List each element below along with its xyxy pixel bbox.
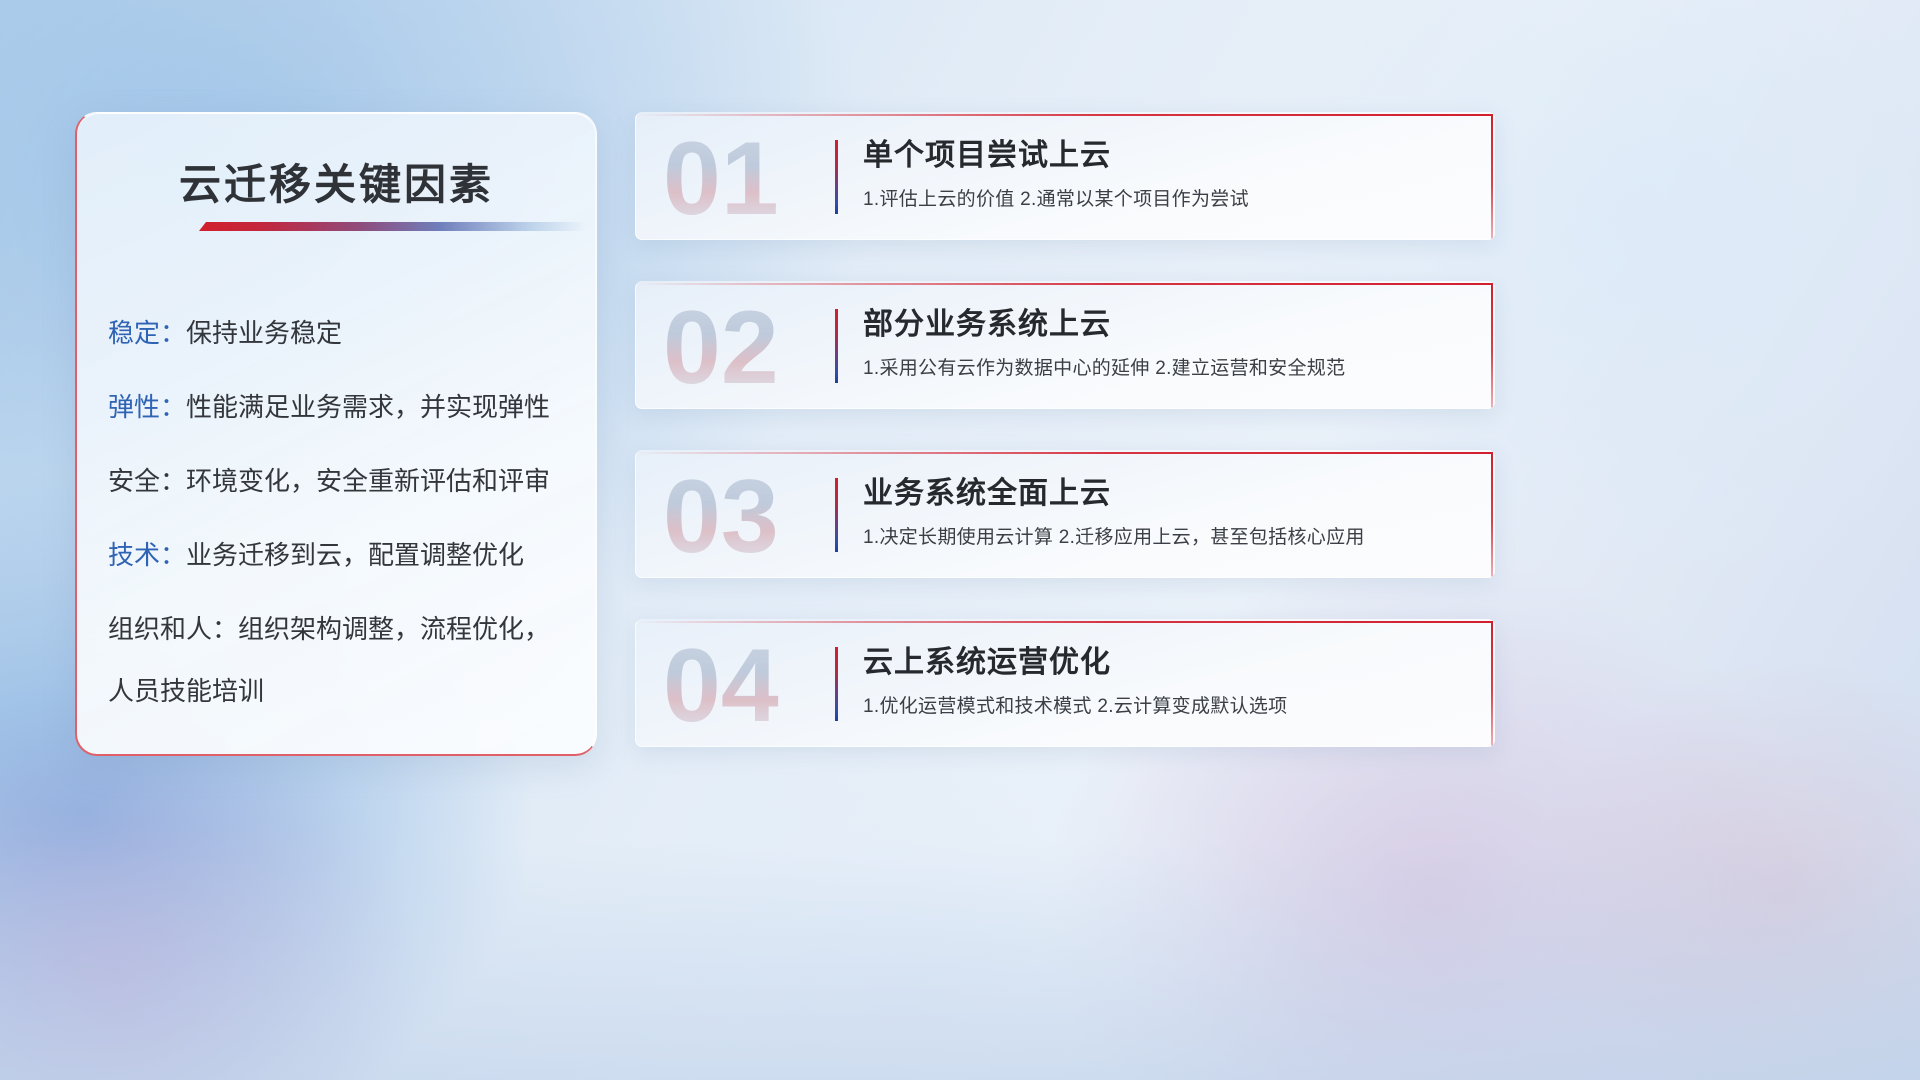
- factor-item: 技术：业务迁移到云，配置调整优化: [108, 542, 582, 568]
- factor-key: 技术：: [108, 540, 186, 570]
- stage-card[interactable]: 04 云上系统运营优化 1.优化运营模式和技术模式 2.云计算变成默认选项: [635, 619, 1495, 747]
- panel-title: 云迁移关键因素: [77, 151, 596, 212]
- svg-text:04: 04: [663, 629, 779, 737]
- factor-item-continuation: 人员技能培训: [108, 678, 582, 704]
- card-body: 业务系统全面上云 1.决定长期使用云计算 2.迁移应用上云，甚至包括核心应用: [863, 476, 1471, 549]
- ghost-number-03-icon: 03: [659, 460, 835, 568]
- stage-card[interactable]: 01 单个项目尝试上云 1.评估上云的价值 2.通常以某个项目作为尝试: [635, 112, 1495, 240]
- factor-key: 弹性：: [108, 392, 186, 422]
- card-body: 云上系统运营优化 1.优化运营模式和技术模式 2.云计算变成默认选项: [863, 645, 1471, 718]
- card-divider: [835, 647, 838, 721]
- svg-text:01: 01: [663, 122, 779, 230]
- card-body: 部分业务系统上云 1.采用公有云作为数据中心的延伸 2.建立运营和安全规范: [863, 307, 1471, 380]
- factor-key: 稳定：: [108, 318, 186, 348]
- factor-list: 稳定：保持业务稳定 弹性：性能满足业务需求，并实现弹性 安全：环境变化，安全重新…: [108, 320, 582, 704]
- ghost-number-02-icon: 02: [659, 291, 835, 399]
- key-factors-panel: 云迁移关键因素 稳定：保持业务稳定 弹性：性能满足业务需求，并实现弹性 安全：环…: [75, 112, 597, 756]
- stage-card[interactable]: 03 业务系统全面上云 1.决定长期使用云计算 2.迁移应用上云，甚至包括核心应…: [635, 450, 1495, 578]
- card-title: 业务系统全面上云: [863, 476, 1471, 511]
- factor-item: 组织和人：组织架构调整，流程优化，: [108, 616, 582, 642]
- card-divider: [835, 309, 838, 383]
- svg-text:03: 03: [663, 460, 779, 568]
- card-subtitle: 1.采用公有云作为数据中心的延伸 2.建立运营和安全规范: [863, 353, 1471, 380]
- factor-value: 环境变化，安全重新评估和评审: [186, 466, 550, 496]
- card-divider: [835, 478, 838, 552]
- factor-value: 性能满足业务需求，并实现弹性: [186, 392, 550, 422]
- stage-card[interactable]: 02 部分业务系统上云 1.采用公有云作为数据中心的延伸 2.建立运营和安全规范: [635, 281, 1495, 409]
- title-underline-gradient: [199, 222, 587, 231]
- card-subtitle: 1.决定长期使用云计算 2.迁移应用上云，甚至包括核心应用: [863, 522, 1471, 549]
- factor-value: 业务迁移到云，配置调整优化: [186, 540, 524, 570]
- card-subtitle: 1.优化运营模式和技术模式 2.云计算变成默认选项: [863, 691, 1471, 718]
- factor-key: 安全：: [108, 466, 186, 496]
- stage-card-list: 01 单个项目尝试上云 1.评估上云的价值 2.通常以某个项目作为尝试: [635, 112, 1495, 747]
- ghost-number-04-icon: 04: [659, 629, 835, 737]
- factor-item: 稳定：保持业务稳定: [108, 320, 582, 346]
- card-title: 部分业务系统上云: [863, 307, 1471, 342]
- svg-text:02: 02: [663, 291, 779, 399]
- slide-stage: 云迁移关键因素 稳定：保持业务稳定 弹性：性能满足业务需求，并实现弹性 安全：环…: [0, 0, 1920, 1080]
- card-body: 单个项目尝试上云 1.评估上云的价值 2.通常以某个项目作为尝试: [863, 138, 1471, 211]
- factor-value: 组织架构调整，流程优化，: [238, 614, 550, 644]
- factor-item: 弹性：性能满足业务需求，并实现弹性: [108, 394, 582, 420]
- factor-value: 人员技能培训: [108, 676, 264, 706]
- ghost-number-01-icon: 01: [659, 122, 835, 230]
- factor-item: 安全：环境变化，安全重新评估和评审: [108, 468, 582, 494]
- factor-value: 保持业务稳定: [186, 318, 342, 348]
- card-title: 云上系统运营优化: [863, 645, 1471, 680]
- factor-key: 组织和人：: [108, 614, 238, 644]
- card-divider: [835, 140, 838, 214]
- card-title: 单个项目尝试上云: [863, 138, 1471, 173]
- card-subtitle: 1.评估上云的价值 2.通常以某个项目作为尝试: [863, 184, 1471, 211]
